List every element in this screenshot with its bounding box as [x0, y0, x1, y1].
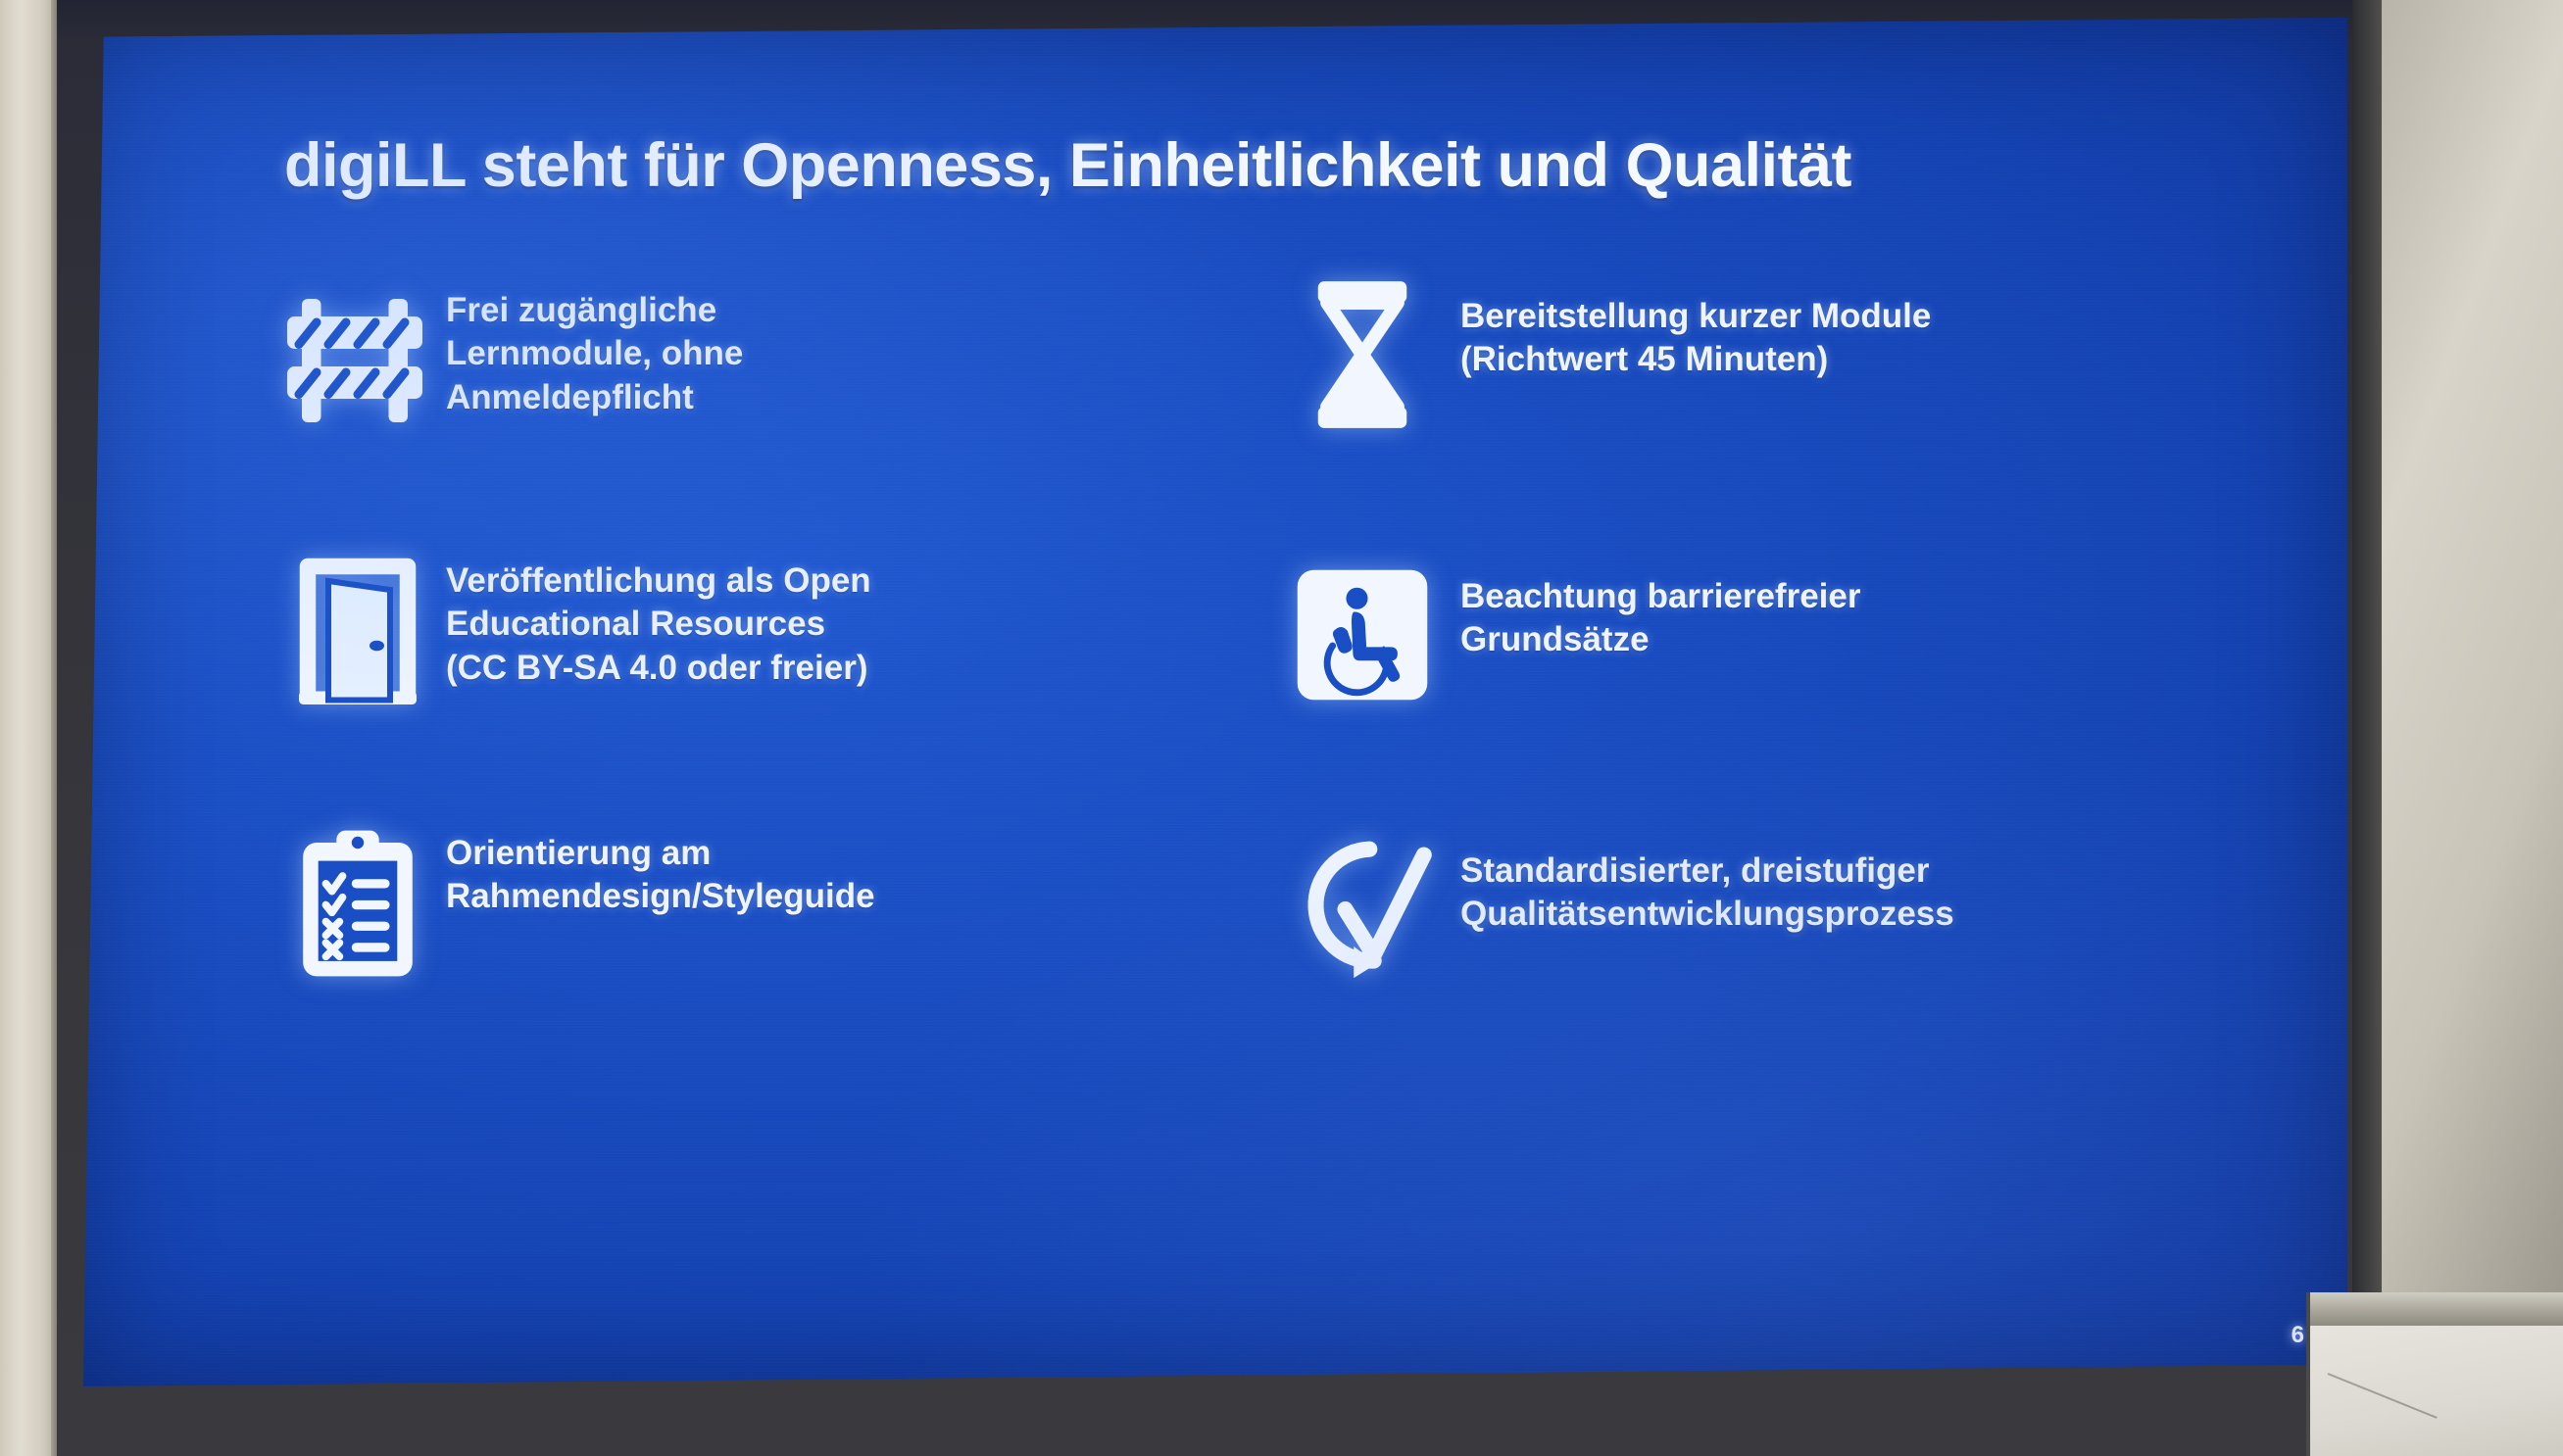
feature-line: Lernmodule, ohne — [446, 332, 743, 375]
feature-line: Bereitstellung kurzer Module — [1460, 295, 1931, 338]
right-wall — [2382, 0, 2563, 1295]
flipchart-rail — [2310, 1292, 2563, 1326]
wheelchair-accessibility-icon — [1264, 554, 1460, 715]
feature-item: Bereitstellung kurzer Module (Richtwert … — [1264, 273, 2200, 516]
clipboard-checklist-icon — [270, 822, 446, 984]
slide-title: digiLL steht für Openness, Einheitlichke… — [284, 130, 2200, 201]
feature-line: (CC BY-SA 4.0 oder freier) — [446, 647, 871, 690]
feature-columns: Frei zugängliche Lernmodule, ohne Anmeld… — [270, 277, 2200, 1071]
open-door-icon — [270, 550, 446, 711]
left-wall — [0, 0, 57, 1456]
feature-line: Qualitätsentwicklungsprozess — [1460, 893, 1954, 936]
feature-column-left: Frei zugängliche Lernmodule, ohne Anmeld… — [270, 277, 1206, 1071]
flipchart-crease — [2328, 1373, 2438, 1419]
feature-item: Standardisierter, dreistufiger Qualitäts… — [1264, 828, 2200, 1071]
feature-item: Frei zugängliche Lernmodule, ohne Anmeld… — [270, 279, 1206, 522]
feature-item: Orientierung am Rahmendesign/Styleguide — [270, 822, 1206, 1065]
feature-line: Rahmendesign/Styleguide — [446, 875, 875, 918]
feature-text: Standardisierter, dreistufiger Qualitäts… — [1460, 828, 1954, 937]
feature-text: Bereitstellung kurzer Module (Richtwert … — [1460, 273, 1931, 382]
feature-line: Educational Resources — [446, 603, 871, 646]
photo-scene: digiLL steht für Openness, Einheitlichke… — [0, 0, 2563, 1456]
feature-line: Grundsätze — [1460, 618, 1860, 661]
feature-text: Veröffentlichung als Open Educational Re… — [446, 550, 871, 690]
hourglass-icon — [1264, 273, 1460, 435]
barrier-icon — [270, 279, 446, 441]
presentation-slide: digiLL steht für Openness, Einheitlichke… — [83, 18, 2347, 1386]
right-wall-shadow — [2352, 0, 2386, 1295]
feature-line: Frei zugängliche — [446, 289, 743, 332]
feature-line: Beachtung barrierefreier — [1460, 575, 1860, 618]
feature-column-right: Bereitstellung kurzer Module (Richtwert … — [1264, 277, 2200, 1071]
feature-item: Veröffentlichung als Open Educational Re… — [270, 550, 1206, 793]
flipchart-paper — [2310, 1326, 2563, 1456]
feature-line: Orientierung am — [446, 832, 875, 875]
feature-line: Anmeldepflicht — [446, 376, 743, 419]
flipchart — [2306, 1292, 2563, 1456]
feature-line: Veröffentlichung als Open — [446, 559, 871, 603]
slide-page-number: 6 — [2292, 1322, 2304, 1349]
feature-text: Beachtung barrierefreier Grundsätze — [1460, 554, 1860, 662]
feature-item: Beachtung barrierefreier Grundsätze — [1264, 554, 2200, 797]
feature-text: Orientierung am Rahmendesign/Styleguide — [446, 822, 875, 919]
feature-text: Frei zugängliche Lernmodule, ohne Anmeld… — [446, 279, 743, 419]
slide-content: digiLL steht für Openness, Einheitlichke… — [83, 18, 2347, 1386]
feature-line: (Richtwert 45 Minuten) — [1460, 338, 1931, 381]
feature-line: Standardisierter, dreistufiger — [1460, 849, 1954, 893]
cycle-check-icon — [1264, 828, 1460, 990]
